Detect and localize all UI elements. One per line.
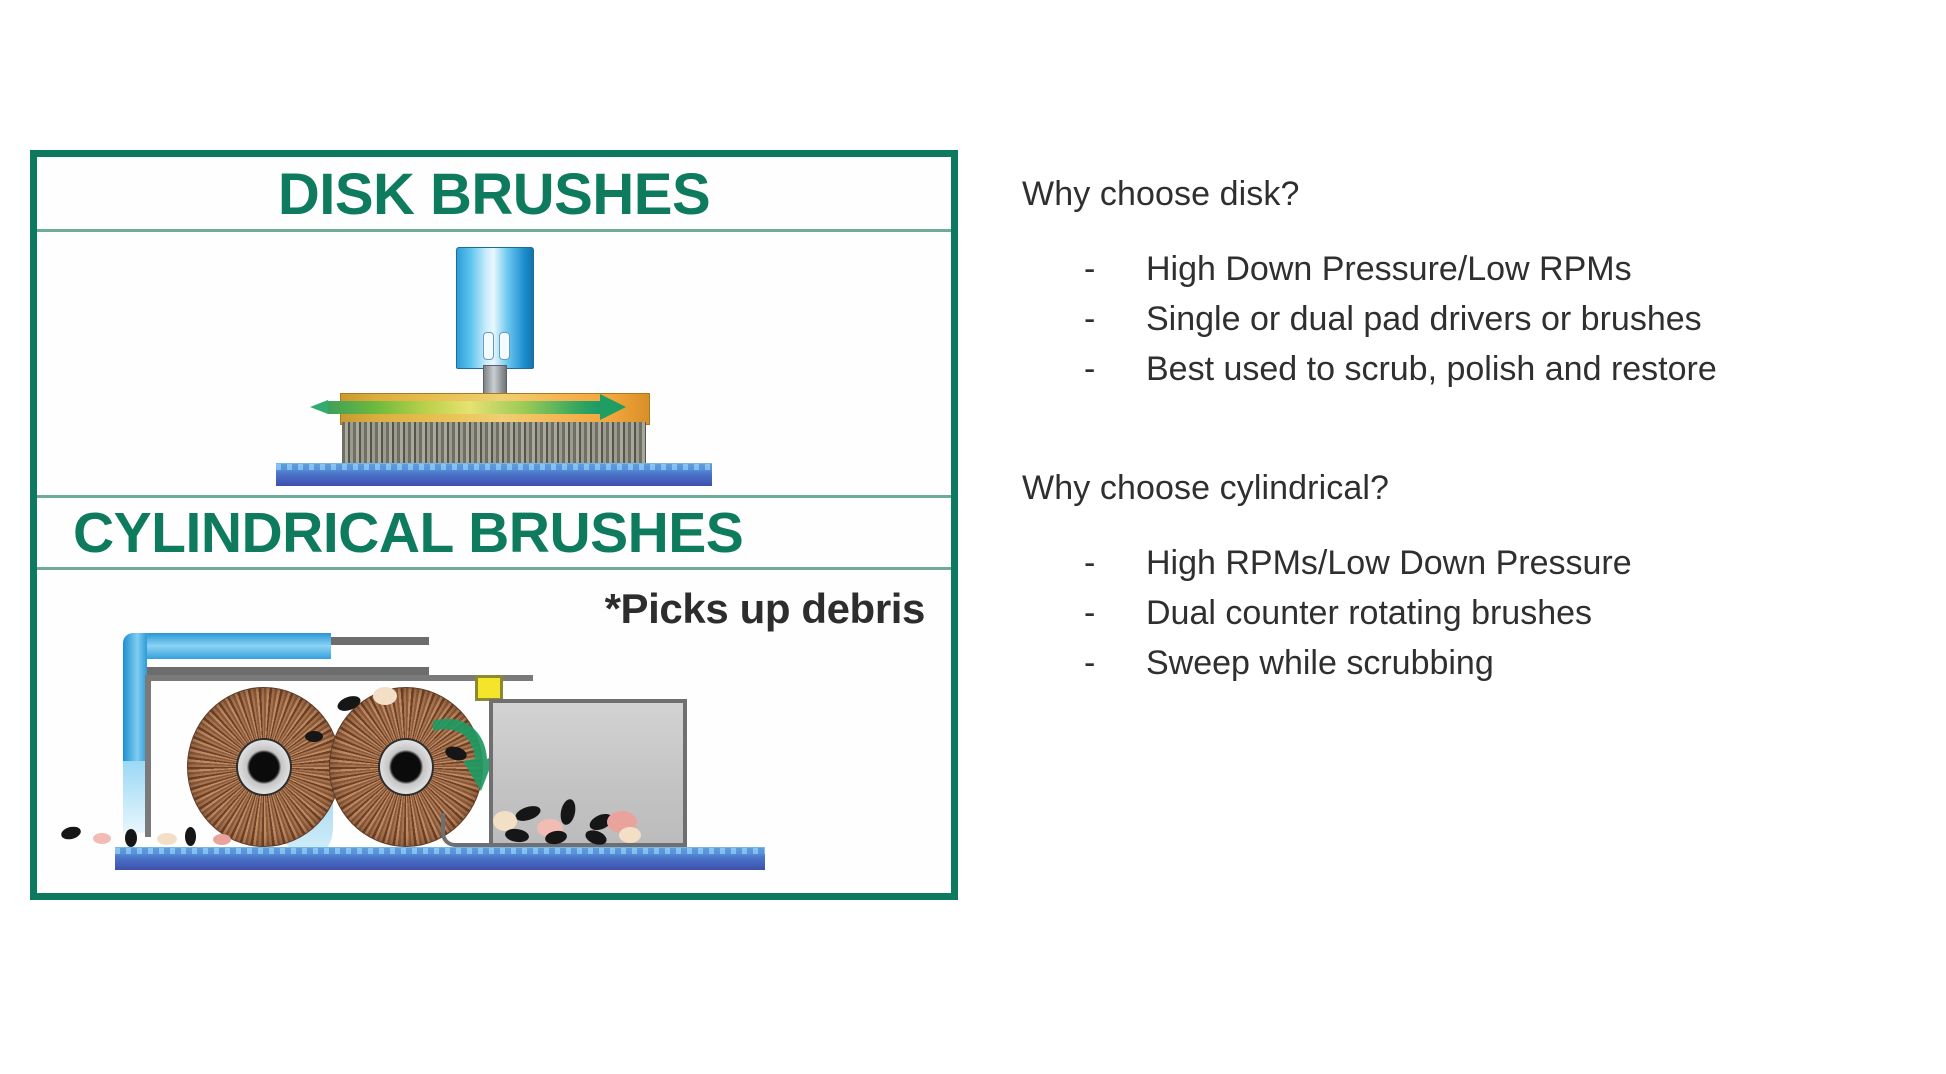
debris-particle — [157, 833, 177, 845]
bullet-marker: - — [1022, 344, 1146, 394]
deck-frame-top-icon — [145, 675, 445, 681]
list-item: - Sweep while scrubbing — [1022, 638, 1882, 688]
cylindrical-brush-front-icon — [187, 687, 341, 847]
rotation-arrow-right-icon — [600, 394, 626, 420]
divider-under-cylindrical-heading — [37, 567, 951, 570]
list-item-label: High Down Pressure/Low RPMs — [1146, 244, 1632, 294]
section-spacer — [1022, 394, 1882, 466]
explanation-text-column: Why choose disk? - High Down Pressure/Lo… — [1022, 172, 1882, 688]
floor-surface-cylindrical-icon — [115, 847, 765, 870]
blue-motor-housing-icon — [456, 247, 534, 369]
deck-second-rail-icon — [147, 667, 429, 675]
list-item-label: Best used to scrub, polish and restore — [1146, 344, 1717, 394]
why-choose-cylindrical-heading: Why choose cylindrical? — [1022, 466, 1882, 510]
bullet-marker: - — [1022, 588, 1146, 638]
hopper-latch-tab-icon — [475, 675, 503, 701]
debris-particle — [305, 731, 323, 742]
motor-vent-slot-left-icon — [483, 332, 494, 360]
water-tube-outlet-icon — [123, 761, 147, 833]
bullet-marker: - — [1022, 538, 1146, 588]
disk-benefits-list: - High Down Pressure/Low RPMs - Single o… — [1022, 244, 1882, 394]
list-item-label: Sweep while scrubbing — [1146, 638, 1494, 688]
hopper-intake-neck-icon — [441, 813, 493, 847]
disk-brush-illustration — [37, 235, 951, 493]
debris-particle — [619, 827, 641, 843]
list-item-label: Single or dual pad drivers or brushes — [1146, 294, 1702, 344]
brush-comparison-diagram: DISK BRUSHES CYLINDRICAL BRUSHES *Picks … — [30, 150, 958, 900]
water-tube-horizontal-icon — [141, 633, 331, 659]
bullet-marker: - — [1022, 638, 1146, 688]
debris-particle — [213, 834, 231, 845]
cylindrical-brush-illustration — [37, 575, 951, 895]
disk-brushes-heading: DISK BRUSHES — [37, 165, 951, 225]
bullet-marker: - — [1022, 244, 1146, 294]
divider-above-cylindrical-heading — [37, 495, 951, 498]
list-item-label: High RPMs/Low Down Pressure — [1146, 538, 1632, 588]
divider-under-disk-heading — [37, 229, 951, 232]
debris-hopper-icon — [489, 699, 687, 847]
list-item-label: Dual counter rotating brushes — [1146, 588, 1592, 638]
deck-frame-left-icon — [145, 675, 151, 837]
why-choose-disk-heading: Why choose disk? — [1022, 172, 1882, 216]
list-item: - High Down Pressure/Low RPMs — [1022, 244, 1882, 294]
list-item: - Single or dual pad drivers or brushes — [1022, 294, 1882, 344]
motor-vent-slot-right-icon — [499, 332, 510, 360]
debris-particle — [60, 825, 82, 841]
debris-particle — [93, 833, 111, 844]
water-tube-vertical-icon — [123, 633, 147, 767]
cylindrical-benefits-list: - High RPMs/Low Down Pressure - Dual cou… — [1022, 538, 1882, 688]
debris-particle — [373, 687, 397, 705]
floor-surface-disk-icon — [276, 463, 712, 486]
debris-particle — [185, 827, 196, 846]
list-item: - High RPMs/Low Down Pressure — [1022, 538, 1882, 588]
cylindrical-brushes-heading: CYLINDRICAL BRUSHES — [37, 503, 951, 563]
rotation-arrow-left-icon — [310, 400, 328, 414]
debris-particle — [125, 829, 137, 847]
bullet-marker: - — [1022, 294, 1146, 344]
rotation-arrow-bar-icon — [328, 401, 600, 414]
list-item: - Dual counter rotating brushes — [1022, 588, 1882, 638]
disk-bristles-icon — [342, 422, 646, 469]
list-item: - Best used to scrub, polish and restore — [1022, 344, 1882, 394]
